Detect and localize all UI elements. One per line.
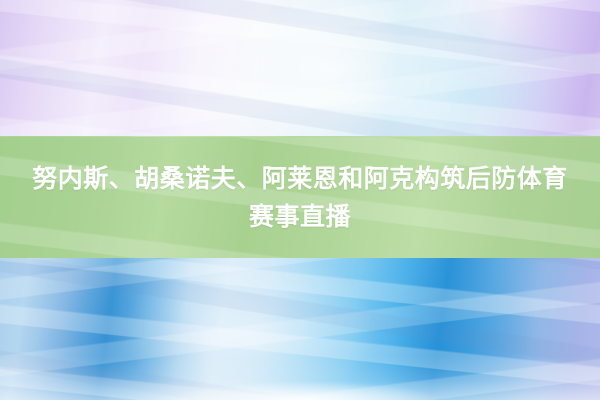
bottom-watermark-haze [0, 356, 600, 400]
banner-title: 努内斯、胡桑诺夫、阿莱恩和阿克构筑后防体育赛事直播 [10, 160, 590, 236]
sports-live-banner: 努内斯、胡桑诺夫、阿莱恩和阿克构筑后防体育赛事直播 [0, 0, 600, 400]
title-band: 努内斯、胡桑诺夫、阿莱恩和阿克构筑后防体育赛事直播 [0, 136, 600, 258]
